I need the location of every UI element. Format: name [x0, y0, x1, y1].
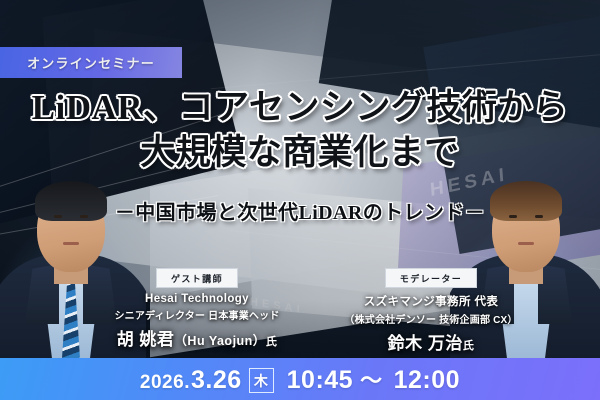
speaker-name-guest-romaji: （Hu Yaojun）: [174, 334, 265, 348]
hair-left: [35, 181, 107, 221]
page-title-line-1: LiDAR、コアセンシング技術から: [0, 89, 600, 126]
eye-left-b: [80, 215, 88, 218]
speaker-name-moderator-suffix: 氏: [463, 340, 475, 352]
page-title-line-2: 大規模な商業化まで: [0, 134, 600, 171]
schedule-end-time: 12:00: [394, 366, 460, 395]
speaker-name-moderator: 鈴木 万治氏: [318, 329, 544, 354]
schedule-start-time: 10:45: [287, 366, 353, 395]
eye-left-a: [54, 215, 62, 218]
mouth-right: [518, 242, 534, 245]
speaker-name-guest: 胡 姚君（Hu Yaojun）氏: [84, 325, 310, 350]
speaker-role-moderator: モデレーター: [385, 268, 477, 288]
seminar-type-badge-label: オンラインセミナー: [27, 53, 155, 72]
mouth-left: [63, 242, 79, 245]
schedule-range-separator: ～: [360, 363, 383, 395]
speaker-organization-guest: Hesai Technology: [84, 293, 310, 305]
speaker-position-guest: シニアディレクター 日本事業ヘッド: [84, 307, 310, 322]
speaker-name-guest-suffix: 氏: [266, 336, 278, 348]
schedule-bar: 2026. 3.26 木 10:45 ～ 12:00: [0, 358, 600, 400]
hair-right: [490, 181, 562, 221]
speaker-role-guest: ゲスト講師: [156, 268, 238, 288]
speaker-name-moderator-kanji: 鈴木 万治: [388, 334, 463, 353]
schedule-day-of-week: 木: [249, 368, 274, 393]
speaker-organization-moderator: スズキマンジ事務所 代表: [318, 293, 544, 309]
speaker-info-moderator: モデレーター スズキマンジ事務所 代表 （株式会社デンソー 技術企画部 CX） …: [318, 268, 544, 354]
seminar-banner: HESAI HESAI HESAI オンラインセミナー LiDAR、コアセンシン…: [0, 0, 600, 400]
schedule-text: 2026. 3.26 木 10:45 ～ 12:00: [140, 363, 460, 396]
eye-right-a: [509, 215, 517, 218]
seminar-type-badge: オンラインセミナー: [0, 47, 182, 78]
speaker-position-moderator: （株式会社デンソー 技術企画部 CX）: [318, 311, 544, 326]
speaker-name-guest-kanji: 胡 姚君: [117, 330, 175, 349]
schedule-year: 2026.: [140, 372, 190, 394]
speaker-info-guest: ゲスト講師 Hesai Technology シニアディレクター 日本事業ヘッド…: [84, 268, 310, 350]
eye-right-b: [535, 215, 543, 218]
schedule-month-day: 3.26: [191, 366, 242, 395]
